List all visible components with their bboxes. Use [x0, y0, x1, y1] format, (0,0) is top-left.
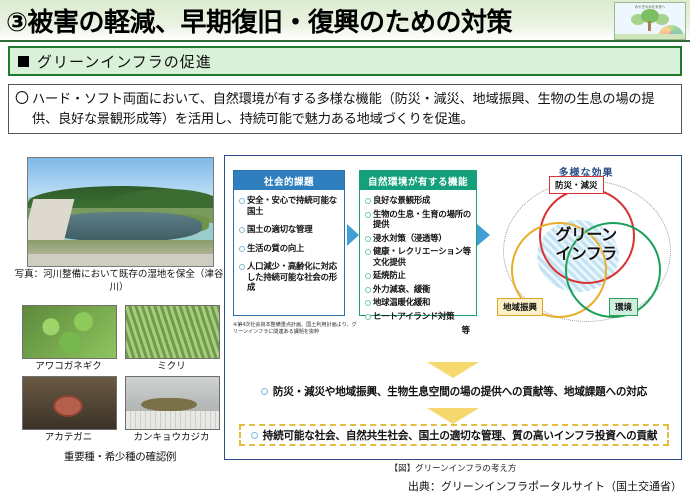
square-bullet-icon	[18, 56, 29, 67]
species-photo-awakoganegiku	[22, 305, 117, 359]
list-item: 延焼防止	[364, 270, 472, 281]
outcome-band-1: 防災・減災や地域振興、生物生息空間の場の提供への貢献等、地域課題への対応	[237, 378, 671, 404]
arrow-down-icon	[427, 362, 479, 378]
section-title: グリーンインフラの促進	[37, 51, 212, 72]
wetland-photo	[27, 157, 214, 267]
venn-diagram: 多様な効果 グリーン インフラ 防災・減災 地域振興 環境	[497, 164, 675, 322]
list-item: 外力減衰、緩衝	[364, 284, 472, 295]
list-item: 国土の適切な管理	[238, 224, 340, 235]
species-caption: アカテガニ	[22, 430, 115, 445]
social-issues-footnote: ※第4次社会資本整備重点計画、国土利用計画より、グリーンインフラに関連ある課題を…	[233, 322, 358, 336]
species-grid-caption: 重要種・希少種の確認例	[22, 449, 218, 464]
section-bar: グリーンインフラの促進	[8, 46, 682, 76]
arrow-down-icon	[427, 408, 479, 424]
outcome-band-1-text: 防災・減災や地域振興、生物生息空間の場の提供への貢献等、地域課題への対応	[273, 384, 647, 399]
list-item: 人口減少・高齢化に対応した持続可能な社会の形成	[238, 261, 340, 293]
page-title: ③被害の軽減、早期復旧・復興のための対策	[6, 2, 512, 39]
source-note: 出典：グリーンインフラポータルサイト（国土交通省）	[408, 478, 682, 494]
natural-functions-list: 良好な景観形成 生物の生息・生育の場所の提供 浸水対策（浸透等） 健康・レクリエ…	[360, 190, 476, 321]
species-photo-mikuri	[125, 305, 220, 359]
species-photo-akategani	[22, 376, 117, 430]
venn-tag-disaster: 防災・減災	[549, 176, 604, 194]
natural-functions-box: 自然環境が有する機能 良好な景観形成 生物の生息・生育の場所の提供 浸水対策（浸…	[359, 170, 477, 316]
outcome-band-2-text: 持続可能な社会、自然共生社会、国土の適切な管理、質の高いインフラ投資への貢献	[263, 428, 658, 443]
venn-center-line1: グリーン	[555, 227, 616, 244]
wetland-photo-caption: 写真：河川整備において既存の湿地を保全（津谷川）	[14, 268, 224, 294]
circle-bullet-icon	[261, 388, 268, 395]
prefecture-logo-icon: みやぎの水を未来へ	[614, 2, 686, 40]
slide: ③被害の軽減、早期復旧・復興のための対策 みやぎの水を未来へ グリーンインフラの…	[0, 0, 690, 502]
venn-tag-environment: 環境	[609, 298, 638, 316]
species-caption: カンキョウカジカ	[125, 430, 218, 445]
natural-functions-title: 自然環境が有する機能	[360, 171, 476, 190]
lead-text: ハード・ソフト両面において、自然環境が有する多様な機能（防災・減災、地域振興、生…	[32, 89, 673, 129]
outcome-band-2: 持続可能な社会、自然共生社会、国土の適切な管理、質の高いインフラ投資への貢献	[239, 424, 669, 446]
list-item: 浸水対策（浸透等）	[364, 233, 472, 244]
species-caption: アワコガネギク	[22, 359, 115, 374]
species-photo-grid: アワコガネギク ミクリ アカテガニ カンキョウカジカ 重要種・希少種の確認例	[22, 305, 218, 464]
species-photo-kankyoukajika	[125, 376, 220, 430]
figure-caption: 【図】グリーンインフラの考え方	[224, 462, 682, 474]
social-issues-title: 社会的課題	[234, 171, 344, 190]
venn-tag-regional: 地域振興	[497, 298, 543, 316]
circle-bullet-icon: 〇	[15, 89, 29, 108]
green-infrastructure-diagram: 社会的課題 安全・安心で持続可能な国土 国土の適切な管理 生活の質の向上 人口減…	[224, 155, 682, 460]
species-caption: ミクリ	[125, 359, 218, 374]
list-item: ヒートアイランド対策	[364, 311, 472, 322]
list-item: 良好な景観形成	[364, 195, 472, 206]
slide-header: ③被害の軽減、早期復旧・復興のための対策 みやぎの水を未来へ	[0, 0, 690, 42]
list-item: 生物の生息・生育の場所の提供	[364, 209, 472, 230]
social-issues-list: 安全・安心で持続可能な国土 国土の適切な管理 生活の質の向上 人口減少・高齢化に…	[234, 190, 344, 293]
lead-statement-box: 〇 ハード・ソフト両面において、自然環境が有する多様な機能（防災・減災、地域振興…	[8, 84, 682, 134]
circle-bullet-icon	[251, 432, 258, 439]
natural-functions-trailer: 等	[360, 324, 476, 336]
social-issues-box: 社会的課題 安全・安心で持続可能な国土 国土の適切な管理 生活の質の向上 人口減…	[233, 170, 345, 316]
species-cell: アカテガニ	[22, 376, 115, 445]
list-item: 生活の質の向上	[238, 243, 340, 254]
list-item: 安全・安心で持続可能な国土	[238, 195, 340, 216]
list-item: 健康・レクリエーション等文化提供	[364, 246, 472, 267]
arrow-right-icon	[477, 224, 490, 246]
arrow-right-icon	[347, 224, 359, 246]
venn-center-line2: インフラ	[555, 246, 617, 263]
list-item: 地球温暖化緩和	[364, 297, 472, 308]
logo-text: みやぎの水を未来へ	[615, 5, 685, 10]
species-cell: ミクリ	[125, 305, 218, 374]
species-cell: カンキョウカジカ	[125, 376, 218, 445]
venn-center-label: グリーン インフラ	[497, 226, 675, 264]
species-cell: アワコガネギク	[22, 305, 115, 374]
